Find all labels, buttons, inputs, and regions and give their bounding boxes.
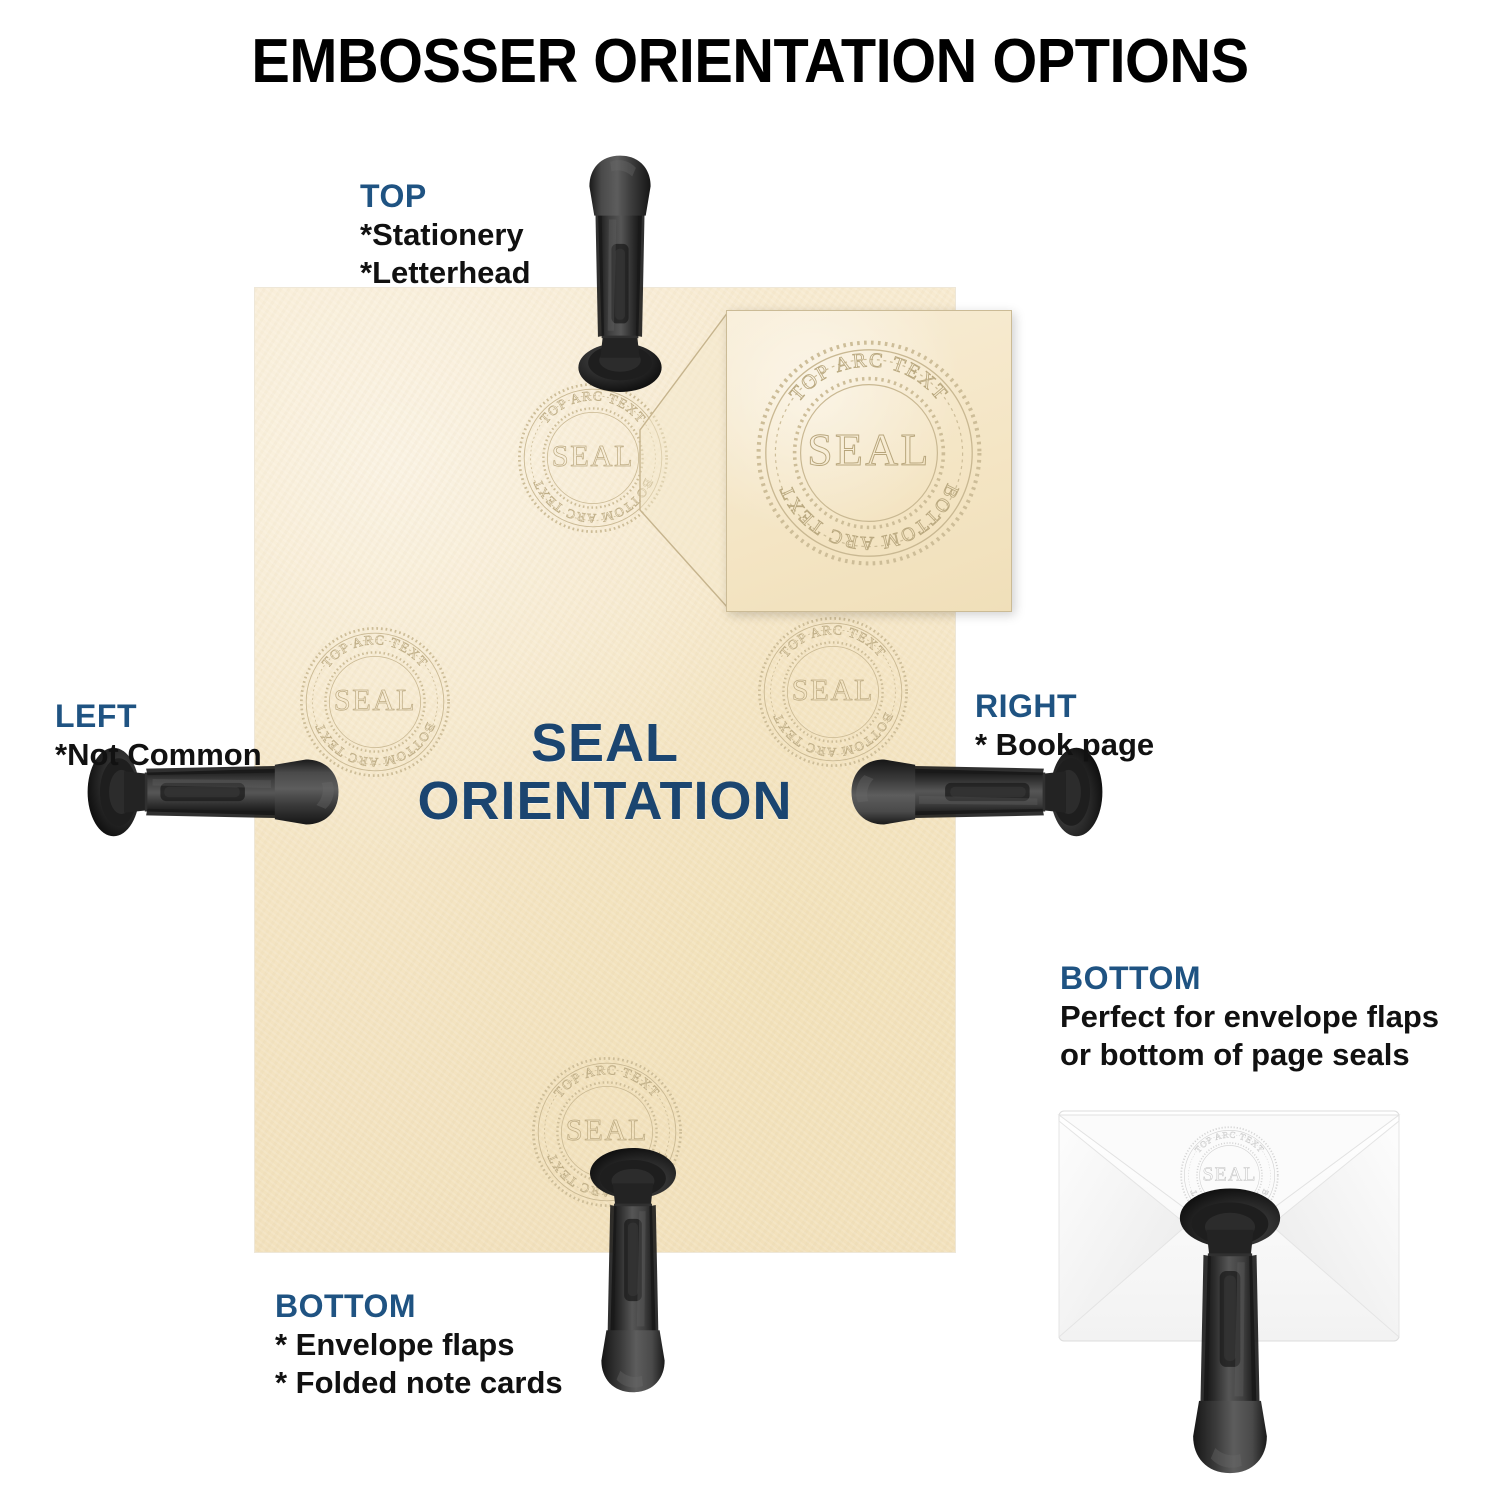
callout-bottom-left-line-2: * Folded note cards [275, 1364, 563, 1402]
magnified-seal-panel: TOP ARC TEXT BOTTOM ARC TEXT SEAL [726, 310, 1012, 612]
callout-bottom-right-line-1: Perfect for envelope flaps [1060, 998, 1439, 1036]
callout-bottom-right: BOTTOM Perfect for envelope flaps or bot… [1060, 960, 1439, 1073]
callout-bottom-left-heading: BOTTOM [275, 1288, 563, 1326]
callout-bottom-left-line-1: * Envelope flaps [275, 1326, 563, 1364]
seal-top-arc-text: TOP ARC TEXT [319, 632, 431, 670]
seal-top-arc-text: TOP ARC TEXT [1193, 1130, 1267, 1155]
callout-top-heading: TOP [360, 178, 531, 216]
embosser-tool-top [540, 152, 700, 392]
callout-left-line-1: *Not Common [55, 736, 262, 774]
page-title: EMBOSSER ORIENTATION OPTIONS [53, 26, 1448, 97]
seal-center-text: SEAL [566, 1113, 648, 1147]
seal-top-arc-text: TOP ARC TEXT [777, 622, 889, 660]
callout-left: LEFT *Not Common [55, 698, 262, 774]
infographic-canvas: EMBOSSER ORIENTATION OPTIONS TOP ARC TE [0, 0, 1500, 1500]
embosser-tool-envelope [1171, 1188, 1289, 1478]
callout-right: RIGHT * Book page [975, 688, 1154, 764]
seal-emboss-top: TOP ARC TEXT BOTTOM ARC TEXT SEAL [513, 378, 673, 538]
callout-bottom-left: BOTTOM * Envelope flaps * Folded note ca… [275, 1288, 563, 1401]
svg-text:BOTTOM ARC TEXT: BOTTOM ARC TEXT [531, 477, 656, 526]
seal-top-arc-text: TOP ARC TEXT [551, 1062, 663, 1100]
seal-center-text: SEAL [334, 683, 416, 717]
callout-right-line-1: * Book page [975, 726, 1154, 764]
seal-top-arc-text: TOP ARC TEXT [537, 388, 649, 426]
seal-center-text: SEAL [792, 673, 874, 707]
svg-text:TOP ARC TEXT: TOP ARC TEXT [551, 1062, 663, 1100]
callout-bottom-right-heading: BOTTOM [1060, 960, 1439, 998]
callout-right-heading: RIGHT [975, 688, 1154, 726]
seal-bottom-arc-text: BOTTOM ARC TEXT [531, 477, 656, 526]
svg-text:TOP ARC TEXT: TOP ARC TEXT [1193, 1130, 1267, 1155]
seal-center-text: SEAL [1202, 1164, 1256, 1186]
seal-center-text: SEAL [552, 439, 634, 473]
callout-bottom-right-line-2: or bottom of page seals [1060, 1036, 1439, 1074]
seal-center-text: SEAL [807, 424, 931, 475]
embosser-tool-bottom [553, 1148, 713, 1396]
callout-top: TOP *Stationery *Letterhead [360, 178, 531, 291]
callout-left-heading: LEFT [55, 698, 262, 736]
svg-text:TOP ARC TEXT: TOP ARC TEXT [319, 632, 431, 670]
svg-text:TOP ARC TEXT: TOP ARC TEXT [777, 622, 889, 660]
callout-top-line-1: *Stationery [360, 216, 531, 254]
callout-top-line-2: *Letterhead [360, 254, 531, 292]
svg-text:TOP ARC TEXT: TOP ARC TEXT [537, 388, 649, 426]
seal-emboss-magnified: TOP ARC TEXT BOTTOM ARC TEXT SEAL [749, 333, 989, 573]
